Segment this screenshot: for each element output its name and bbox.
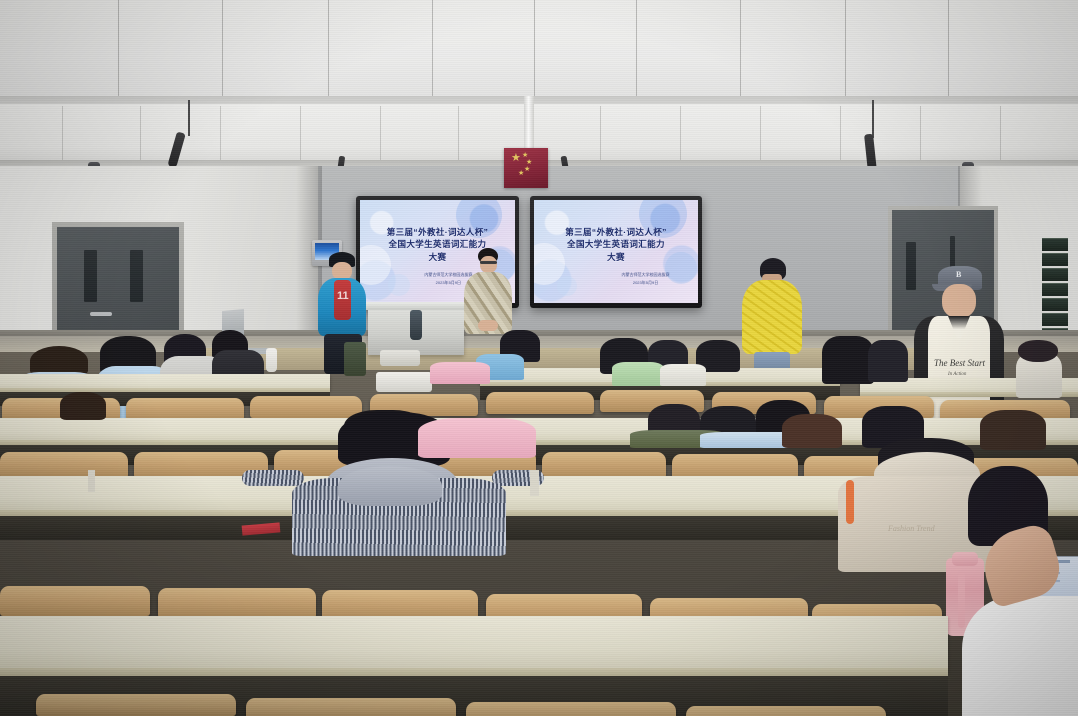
chair-back[interactable] [36,694,236,716]
glasses-icon [480,261,497,264]
student-head [1018,340,1058,362]
ceiling-seam [380,106,381,162]
bottle-cap[interactable] [952,552,978,566]
ceiling-upper-panels [0,0,1078,104]
student-arm [242,470,304,486]
lectern-top [364,302,468,310]
student-head [782,414,842,448]
right-display[interactable]: 第三届“外教社·词达人杯” 全国大学生英语词汇能力 大赛 内蒙古师范大学校园选拔… [530,196,702,308]
ceiling-seam [220,106,221,162]
bottle-strap [958,572,965,628]
presenter-face [480,256,497,273]
chair-back[interactable] [126,398,244,420]
desk-leg [88,470,95,492]
ceiling-seam [680,106,681,162]
chair-back[interactable] [686,706,886,716]
chair-back[interactable] [246,698,456,716]
chinese-flag-icon: ★ ★ ★ ★ ★ [504,148,548,188]
student-pink-top [430,362,490,384]
slide-title-line2: 全国大学生英语词汇能力 [541,239,692,250]
polo-shirt-text: The Best Start [934,358,985,368]
student-pink-jacket [418,418,536,458]
slide-title-line1: 第三届“外教社·词达人杯” [366,227,509,238]
microphone-cable [188,100,190,136]
bag-strap [846,480,854,524]
chair-back[interactable] [158,588,316,618]
ceiling-seam [140,106,141,162]
chair-back[interactable] [542,452,666,478]
student-dark-top [868,340,908,382]
chair-back[interactable] [466,702,676,716]
volunteer-jersey-number: 11 [337,290,349,302]
ceiling-seam [920,106,921,162]
ceiling-seam [636,0,637,100]
desk-leg [530,470,539,496]
bag[interactable] [380,350,420,366]
ceiling-seam [840,106,841,162]
desk-row[interactable] [0,616,948,672]
hoodie-text: Fashion Trend [888,524,935,533]
presenter-hands [478,320,498,331]
student-green-bag [612,362,664,386]
right-display-screen: 第三届“外教社·词达人杯” 全国大学生英语词汇能力 大赛 内蒙古师范大学校园选拔… [534,200,698,303]
student-face [942,284,976,318]
ceiling-seam [432,0,433,100]
ceiling-seam [740,0,741,100]
door-window [84,250,97,302]
ceiling-seam [534,0,535,100]
hoodie-hood-front [338,466,442,506]
ceiling-seam [458,106,459,162]
chair-back[interactable] [250,396,362,418]
student-white-top [660,364,706,386]
ceiling-seam [760,106,761,162]
yellow-shirt [742,280,802,354]
ceiling-seam [845,0,846,100]
bag[interactable] [376,372,432,392]
chair-back[interactable] [0,586,150,616]
water-bottle[interactable] [266,348,277,372]
student-head [60,392,106,420]
microphone-cable [872,100,874,138]
chair-back[interactable] [486,392,594,414]
ceiling-seam [328,0,329,100]
ceiling-seam [62,106,63,162]
slide-subtitle-line2: 2023年5月9日 [603,280,688,286]
door-window [130,250,143,302]
ceiling-seam [1000,106,1001,162]
door-handle[interactable] [90,312,112,316]
student-head [980,410,1046,450]
lecture-hall-photo: ★ ★ ★ ★ ★ 第三届“外教社·词达人杯” 全国大学生英语词汇能力 大赛 内… [0,0,1078,716]
student-dark-top [822,336,874,384]
ceiling-seam [300,106,301,162]
slide-title-line1: 第三届“外教社·词达人杯” [541,227,692,238]
backpack[interactable] [344,342,366,376]
polo-shirt-subtext: In Action [948,372,966,377]
water-bottle[interactable] [410,310,422,340]
slide-subtitle-line1: 内蒙古师范大学校园选拔赛 [603,272,688,278]
student-white-sleeve [962,596,1078,716]
ceiling-seam [118,0,119,100]
slide-title-line3: 大赛 [541,252,692,263]
chair-back[interactable] [0,452,128,478]
ceiling-seam [600,106,601,162]
student-yellow-shirt [742,258,802,376]
ceiling-seam [222,0,223,100]
cap-letter: B [956,270,961,279]
ceiling-seam [948,0,949,100]
